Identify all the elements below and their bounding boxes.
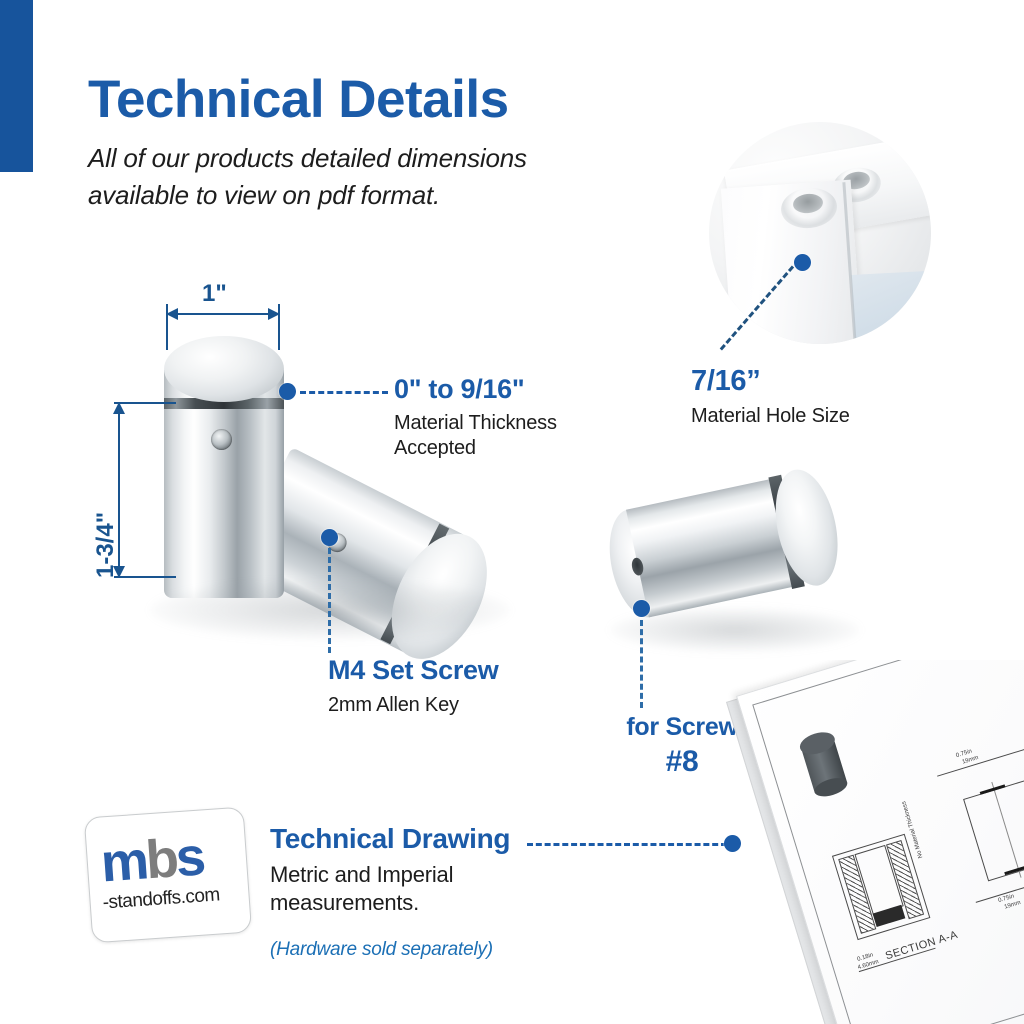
callout-line-material-thickness	[300, 391, 388, 394]
callout-set-screw: M4 Set Screw 2mm Allen Key	[328, 656, 608, 718]
callout-dot-material-hole-size[interactable]	[794, 254, 811, 271]
dimension-width-tick-right	[278, 304, 280, 350]
callout-material-hole-size: 7/16” Material Hole Size	[691, 366, 961, 429]
accent-bar	[0, 0, 33, 172]
callout-material-hole-size-sub-1: Material Hole Size	[691, 404, 961, 430]
callout-material-hole-size-title: 7/16”	[691, 366, 961, 398]
standoff-upright-set-screw-icon	[211, 429, 232, 450]
brand-logo-letter-b: b	[144, 828, 178, 890]
material-hole-photo	[709, 122, 931, 344]
standoff-upright	[164, 336, 284, 606]
callout-technical-drawing-sub-2: measurements.	[270, 889, 600, 917]
callout-material-thickness: 0" to 9/16" Material Thickness Accepted	[394, 375, 654, 462]
callout-material-thickness-sub-1: Material Thickness	[394, 411, 654, 437]
callout-set-screw-sub-1: 2mm Allen Key	[328, 693, 608, 719]
page-subtitle: All of our products detailed dimensions …	[88, 140, 688, 214]
callout-dot-screw-size[interactable]	[633, 600, 650, 617]
dimension-width-line	[168, 313, 280, 315]
dimension-width-tick-left	[166, 304, 168, 350]
callout-line-set-screw	[328, 548, 331, 653]
subtitle-line-2: available to view on pdf format.	[88, 177, 688, 214]
dimension-height-tick-bottom	[114, 576, 176, 578]
standoff-horizontal-shadow	[610, 608, 860, 652]
dimension-width-label: 1"	[202, 280, 227, 308]
subtitle-line-1: All of our products detailed dimensions	[88, 140, 688, 177]
callout-technical-drawing-sub-1: Metric and Imperial	[270, 861, 600, 889]
callout-dot-set-screw[interactable]	[321, 529, 338, 546]
standoff-upright-cap	[164, 336, 284, 402]
callout-material-thickness-sub-2: Accepted	[394, 436, 654, 462]
brand-logo-letter-s: s	[174, 827, 205, 889]
page-title: Technical Details	[88, 72, 708, 128]
dimension-height-tick-top	[114, 402, 176, 404]
brand-logo-letter-m: m	[99, 831, 148, 894]
brand-logo[interactable]: mbs -standoffs.com	[84, 807, 251, 946]
callout-technical-drawing-note: (Hardware sold separately)	[270, 939, 600, 961]
callout-dot-material-thickness[interactable]	[279, 383, 296, 400]
callout-set-screw-title: M4 Set Screw	[328, 656, 608, 686]
callout-line-screw-size	[640, 620, 643, 708]
callout-line-technical-drawing	[527, 843, 727, 846]
photo-acrylic-panel	[851, 269, 931, 344]
dimension-height-line	[118, 408, 120, 578]
dimension-height: 1-3/4"	[70, 396, 180, 591]
callout-technical-drawing-title: Technical Drawing	[270, 824, 600, 855]
technical-drawing-sheet-area: SECTION A-A A A 0.75in 19mm 0.75in 19mm …	[700, 660, 1024, 1024]
dimension-width: 1"	[160, 280, 290, 325]
brand-logo-wordmark: mbs	[99, 826, 233, 893]
callout-material-thickness-title: 0" to 9/16"	[394, 375, 654, 405]
